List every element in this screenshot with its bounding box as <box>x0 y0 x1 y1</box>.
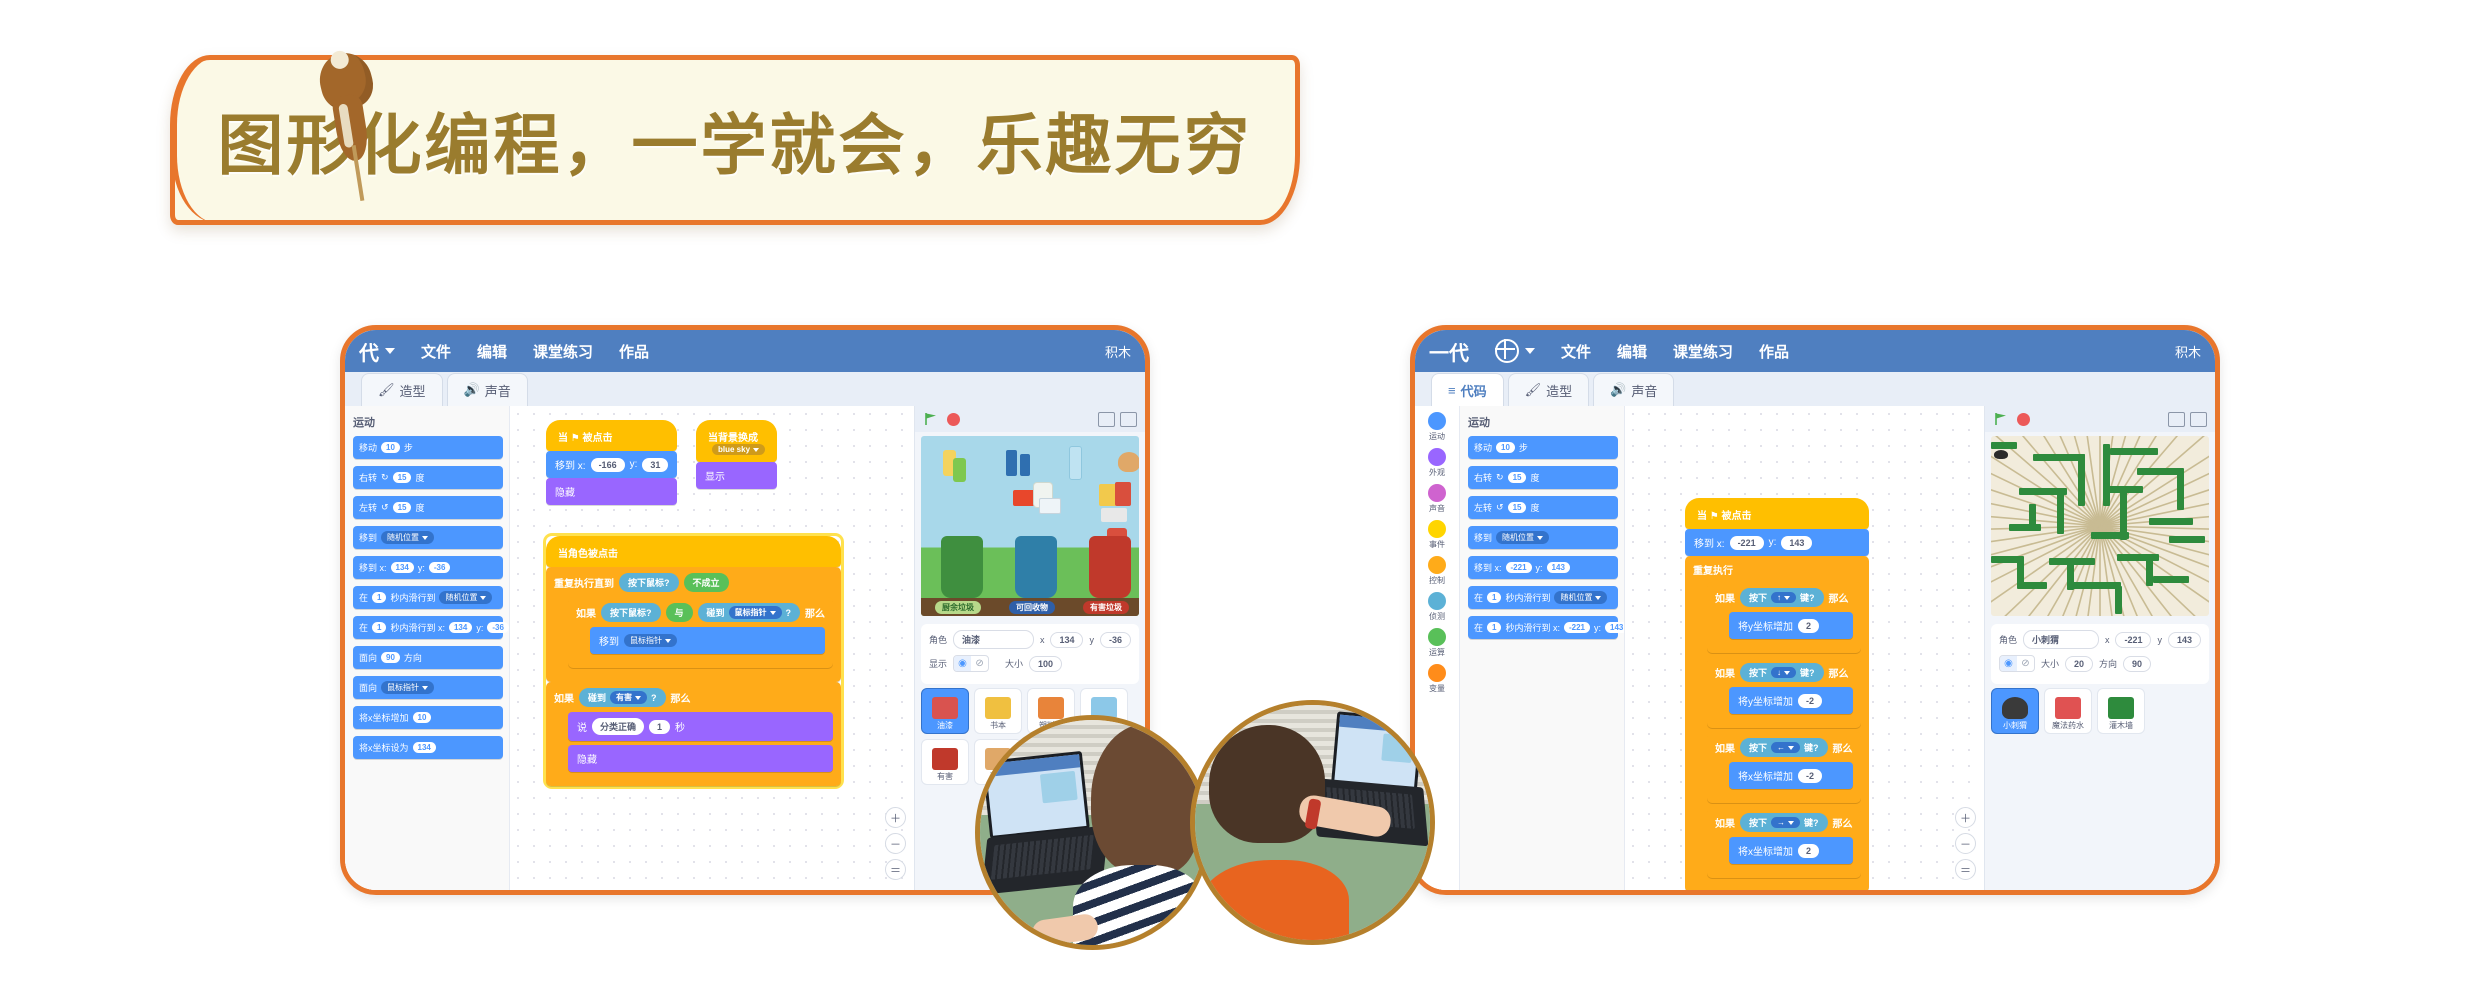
sprite-y-input[interactable]: -36 <box>1100 632 1131 648</box>
visibility-label: 显示 <box>929 657 947 670</box>
title-banner: 图形化编程，一学就会，乐趣无穷 <box>150 45 1310 225</box>
dropdown-random-position[interactable]: 随机位置 <box>1496 531 1549 544</box>
block-change-y-down[interactable]: 将y坐标增加 -2 <box>1729 687 1853 714</box>
left-block-palette[interactable]: 运动 移动 10 步 右转 ↻ 15 度 左转 ↺ 15 度 移到 随 <box>345 406 510 890</box>
sprite-name-input[interactable]: 小刺猬 <box>2023 630 2099 649</box>
block-key-pressed-up[interactable]: 按下 ↑ 键? <box>1740 588 1824 607</box>
category-control[interactable]: 控制 <box>1415 556 1459 586</box>
stop-icon[interactable] <box>2017 413 2030 426</box>
script-maze-controls[interactable]: 当 ⚑ 被点击 移到 x: -221 y: 143 重复执行 如果 <box>1685 498 1869 890</box>
screenshot-maze-game-app: 一代 文件 编辑 课堂练习 作品 积木 ≡ 代码 🖌 造型 🔊 声音 运动 <box>1410 325 2220 895</box>
category-sound[interactable]: 声音 <box>1415 484 1459 514</box>
script-when-flag-clicked[interactable]: 当 ⚑ 被点击 移到 x: -166 y: 31 隐藏 <box>546 420 677 505</box>
hat-when-flag-clicked[interactable]: 当 ⚑ 被点击 <box>1685 498 1869 529</box>
right-stage-column: 角色 小刺猬 x -221 y 143 ◉ ⊘ 大小 20 方向 90 <box>1984 406 2215 890</box>
category-events[interactable]: 事件 <box>1415 520 1459 550</box>
block-change-x-left[interactable]: 将x坐标增加 -2 <box>1729 762 1853 789</box>
pushpin-icon <box>310 45 400 205</box>
maze-wall <box>1991 442 2017 449</box>
sprite-direction-input[interactable]: 90 <box>2123 656 2151 672</box>
palette-category-title: 运动 <box>1468 414 1618 430</box>
palette-block-glide-random[interactable]: 在 1 秒内滑行到 随机位置 <box>353 586 503 609</box>
palette-block-glide-xy[interactable]: 在 1 秒内滑行到 x: 134 y: -36 <box>353 616 503 639</box>
trash-item-can-green <box>953 458 966 482</box>
dropdown-random-position-2[interactable]: 随机位置 <box>1554 591 1607 604</box>
category-dot <box>1428 556 1446 574</box>
block-if-touching-harmful[interactable]: 如果 碰到 有害 ? 那么 说 分类正确 <box>546 682 841 786</box>
sprite-name-label: 角色 <box>1999 633 2017 646</box>
dropdown-random-position[interactable]: 随机位置 <box>381 531 434 544</box>
block-change-x-right[interactable]: 将x坐标增加 2 <box>1729 837 1853 864</box>
block-goto-xy[interactable]: 移到 x: -221 y: 143 <box>1685 529 1869 556</box>
palette-block-move[interactable]: 移动 10 步 <box>353 436 503 459</box>
y-label: y <box>2157 635 2162 645</box>
laptop-screen <box>982 751 1090 839</box>
globe-icon[interactable] <box>1495 339 1519 363</box>
palette-block-turn-right[interactable]: 右转 ↻ 15 度 <box>1468 466 1618 489</box>
chevron-down-icon[interactable] <box>1525 348 1535 354</box>
block-goto-mouse[interactable]: 移到 鼠标指针 <box>590 627 825 654</box>
block-forever[interactable]: 重复执行 如果 按下 ↑ 键? <box>1685 556 1869 890</box>
hide-icon[interactable]: ⊘ <box>2017 656 2034 671</box>
code-icon: ≡ <box>1448 383 1456 398</box>
zoom-in-button[interactable]: ＋ <box>1955 807 1976 828</box>
bin-label-recyclable: 可回收物 <box>1009 601 1055 614</box>
palette-block-glide-xy[interactable]: 在 1 秒内滑行到 x: -221 y: 143 <box>1468 616 1618 639</box>
block-if-then[interactable]: 如果 按下鼠标? 与 碰到 鼠标指针 ? 那么 <box>568 597 833 668</box>
right-sprite-list: 小刺猬 魔法药水 灌木墙 <box>1991 688 2209 734</box>
right-app-topbar: 一代 文件 编辑 课堂练习 作品 积木 <box>1415 330 2215 372</box>
maze-wall <box>2017 582 2047 589</box>
dropdown-key-left[interactable]: ← <box>1771 742 1800 753</box>
person-hair <box>1091 724 1199 874</box>
zoom-in-button[interactable]: ＋ <box>885 807 906 828</box>
tab-costume[interactable]: 🖌 造型 <box>1508 373 1590 406</box>
maze-wall <box>2029 504 2036 530</box>
block-if-key-up[interactable]: 如果 按下 ↑ 键? 那么 <box>1707 582 1861 653</box>
bin-kitchen-waste[interactable] <box>941 536 983 598</box>
rotate-ccw-icon: ↺ <box>381 502 389 513</box>
dropdown-touching-target[interactable]: 鼠标指针 <box>729 606 782 619</box>
speaker-icon: 🔊 <box>1610 382 1626 398</box>
bin-recyclable[interactable] <box>1015 536 1057 598</box>
script-when-sprite-clicked[interactable]: 当角色被点击 重复执行直到 按下鼠标? 不成立 如果 按下鼠标? 与 <box>546 536 841 786</box>
block-repeat-until[interactable]: 重复执行直到 按下鼠标? 不成立 如果 按下鼠标? 与 碰到 <box>546 567 841 682</box>
category-dot <box>1428 484 1446 502</box>
right-app-body: 运动 外观 声音 事件 控制 侦测 <box>1415 406 2215 890</box>
category-dot <box>1428 664 1446 682</box>
trash-item-lunchbox <box>1039 498 1061 514</box>
right-zoom-controls[interactable]: ＋ － ＝ <box>1955 807 1976 880</box>
dropdown-key-down[interactable]: ↓ <box>1771 667 1796 678</box>
block-say-for-seconds[interactable]: 说 分类正确 1 秒 <box>568 712 833 741</box>
block-not[interactable]: 不成立 <box>684 573 729 592</box>
green-flag-icon[interactable] <box>1993 411 2009 427</box>
account-label[interactable]: 积木 <box>2175 342 2201 361</box>
block-if-key-left[interactable]: 如果 按下 ← 键? 那么 <box>1707 732 1861 803</box>
show-icon[interactable]: ◉ <box>954 656 971 671</box>
laptop-ui <box>985 754 1086 835</box>
account-label[interactable]: 积木 <box>1105 342 1131 361</box>
block-if-key-down[interactable]: 如果 按下 ↓ 键? 那么 <box>1707 657 1861 728</box>
rotate-cw-icon: ↻ <box>1496 472 1504 483</box>
block-key-pressed-down[interactable]: 按下 ↓ 键? <box>1740 663 1824 682</box>
block-mouse-down[interactable]: 按下鼠标? <box>619 573 679 592</box>
app-logo: 代 <box>359 337 395 366</box>
palette-block-turn-left[interactable]: 左转 ↺ 15 度 <box>353 496 503 519</box>
category-dot <box>1428 592 1446 610</box>
show-icon[interactable]: ◉ <box>2000 656 2017 671</box>
maze-wall <box>2146 554 2153 586</box>
left-app-tabbar: 🖌 造型 🔊 声音 <box>345 372 1145 406</box>
sprite-thumbnail <box>2002 697 2028 719</box>
left-script-canvas[interactable]: 当 ⚑ 被点击 移到 x: -166 y: 31 隐藏 当背景换成 blue s… <box>510 406 914 890</box>
palette-block-change-x[interactable]: 将x坐标增加 10 <box>353 706 503 729</box>
category-looks[interactable]: 外观 <box>1415 448 1459 478</box>
category-variables[interactable]: 变量 <box>1415 664 1459 694</box>
x-label: x <box>2105 635 2110 645</box>
right-app-tabbar: ≡ 代码 🖌 造型 🔊 声音 <box>1415 372 2215 406</box>
palette-block-set-x[interactable]: 将x坐标设为 134 <box>353 736 503 759</box>
palette-block-turn-right[interactable]: 右转 ↻ 15 度 <box>353 466 503 489</box>
dropdown-harmful[interactable]: 有害 <box>610 691 647 704</box>
dropdown-key-right[interactable]: → <box>1771 817 1800 828</box>
trash-item-bread <box>1118 452 1139 472</box>
trash-item-battery-2 <box>1020 454 1030 476</box>
category-sensing[interactable]: 侦测 <box>1415 592 1459 622</box>
palette-block-glide-random[interactable]: 在 1 秒内滑行到 随机位置 <box>1468 586 1618 609</box>
sprite-name-input[interactable]: 油漆 <box>953 630 1034 649</box>
sprite-card-potion[interactable]: 魔法药水 <box>2044 688 2092 734</box>
block-touching[interactable]: 碰到 鼠标指针 ? <box>698 603 801 622</box>
sprite-thumbnail <box>932 697 958 719</box>
left-stage-controls <box>915 406 1145 432</box>
category-motion[interactable]: 运动 <box>1415 412 1459 442</box>
zoom-reset-button[interactable]: ＝ <box>1955 859 1976 880</box>
left-sprite-info-panel: 角色 油漆 x 134 y -36 显示 ◉ ⊘ 大小 100 <box>921 624 1139 684</box>
maze-wall <box>2110 448 2158 455</box>
bin-label-harmful: 有害垃圾 <box>1083 601 1129 614</box>
menu-edit[interactable]: 编辑 <box>1617 341 1647 362</box>
dropdown-random-position-2[interactable]: 随机位置 <box>439 591 492 604</box>
tab-sound[interactable]: 🔊 声音 <box>1593 373 1674 406</box>
photo-boy-coding <box>1190 700 1435 945</box>
fullscreen-icon[interactable] <box>1120 412 1137 427</box>
speaker-icon: 🔊 <box>464 382 480 398</box>
category-dot <box>1428 520 1446 538</box>
maze-wall <box>2009 524 2041 531</box>
zoom-out-button[interactable]: － <box>885 833 906 854</box>
palette-block-turn-left[interactable]: 左转 ↺ 15 度 <box>1468 496 1618 519</box>
sprite-card-paint[interactable]: 油漆 <box>921 688 969 734</box>
hat-when-backdrop[interactable]: 当背景换成 blue sky <box>696 420 777 462</box>
palette-block-goto-random[interactable]: 移到 随机位置 <box>353 526 503 549</box>
sprite-x-input[interactable]: 134 <box>1050 632 1083 648</box>
block-show[interactable]: 显示 <box>696 462 777 489</box>
block-hide-2[interactable]: 隐藏 <box>568 745 833 772</box>
sprite-y-input[interactable]: 143 <box>2168 632 2201 648</box>
green-flag-icon[interactable] <box>923 411 939 427</box>
maze-wall <box>2149 518 2193 525</box>
hide-icon[interactable]: ⊘ <box>971 656 988 671</box>
right-block-palette[interactable]: 运动 移动 10 步 右转 ↻ 15 度 左转 ↺ 15 度 移到 随机 <box>1460 406 1625 890</box>
trash-item-snack-bag <box>1013 490 1035 506</box>
x-label: x <box>1040 635 1045 645</box>
right-script-canvas[interactable]: 当 ⚑ 被点击 移到 x: -221 y: 143 重复执行 如果 <box>1625 406 1984 890</box>
block-if-key-right[interactable]: 如果 按下 → 键? 那么 <box>1707 807 1861 878</box>
maze-wall <box>2153 576 2189 583</box>
bin-label-kitchen: 厨余垃圾 <box>935 601 981 614</box>
script-when-backdrop-switches[interactable]: 当背景换成 blue sky 显示 <box>696 420 777 489</box>
sprite-name-label: 角色 <box>929 633 947 646</box>
category-dot <box>1428 628 1446 646</box>
tab-sound[interactable]: 🔊 声音 <box>447 373 528 406</box>
laptop-ui <box>1334 715 1420 790</box>
menu-file[interactable]: 文件 <box>1561 341 1591 362</box>
menu-works[interactable]: 作品 <box>619 341 649 362</box>
sprite-thumbnail <box>1038 697 1064 719</box>
block-hide[interactable]: 隐藏 <box>546 478 677 505</box>
trash-item-book-2 <box>1115 482 1131 506</box>
palette-block-goto-xy[interactable]: 移到 x: 134 y: -36 <box>353 556 503 579</box>
sprite-card-hedgehog[interactable]: 小刺猬 <box>1991 688 2039 734</box>
block-key-pressed-left[interactable]: 按下 ← 键? <box>1740 738 1828 757</box>
menu-exercise[interactable]: 课堂练习 <box>1673 341 1733 362</box>
dropdown-backdrop[interactable]: blue sky <box>712 444 765 455</box>
small-stage-icon[interactable] <box>2168 412 2185 427</box>
hat-when-flag-clicked[interactable]: 当 ⚑ 被点击 <box>546 420 677 451</box>
left-app-topbar: 代 文件 编辑 课堂练习 作品 积木 <box>345 330 1145 372</box>
palette-block-goto-random[interactable]: 移到 随机位置 <box>1468 526 1618 549</box>
sprite-thumbnail <box>2108 697 2134 719</box>
fullscreen-icon[interactable] <box>2190 412 2207 427</box>
menu-file[interactable]: 文件 <box>421 341 451 362</box>
chevron-down-icon[interactable] <box>385 348 395 354</box>
trash-item-newspaper <box>1101 508 1127 522</box>
block-key-pressed-right[interactable]: 按下 → 键? <box>1740 813 1828 832</box>
maze-wall <box>2067 582 2121 589</box>
direction-label: 方向 <box>2099 657 2117 670</box>
sprite-card-harmful[interactable]: 有害 <box>921 739 969 785</box>
palette-block-point-towards[interactable]: 面向 鼠标指针 <box>353 676 503 699</box>
sprite-x-input[interactable]: -221 <box>2115 632 2151 648</box>
size-label: 大小 <box>1005 657 1023 670</box>
brush-icon: 🖌 <box>1525 382 1542 398</box>
y-label: y <box>1089 635 1094 645</box>
menu-works[interactable]: 作品 <box>1759 341 1789 362</box>
dropdown-goto-target[interactable]: 鼠标指针 <box>624 634 677 647</box>
sprite-size-input[interactable]: 100 <box>1029 656 1062 672</box>
tab-code[interactable]: ≡ 代码 <box>1431 373 1504 406</box>
maze-wall <box>2091 532 2129 539</box>
right-sprite-info-panel: 角色 小刺猬 x -221 y 143 ◉ ⊘ 大小 20 方向 90 <box>1991 624 2209 684</box>
bin-harmful[interactable] <box>1089 536 1131 598</box>
maze-wall <box>2103 444 2110 506</box>
maze-wall <box>2078 454 2085 506</box>
right-stage-controls <box>1985 406 2215 432</box>
maze-wall <box>2177 468 2184 510</box>
palette-block-move[interactable]: 移动 10 步 <box>1468 436 1618 459</box>
maze-wall <box>2169 536 2205 543</box>
person-shirt <box>1199 860 1349 945</box>
sprite-hedgehog[interactable] <box>1994 450 2008 459</box>
palette-block-goto-xy[interactable]: 移到 x: -221 y: 143 <box>1468 556 1618 579</box>
zoom-reset-button[interactable]: ＝ <box>885 859 906 880</box>
tab-costume[interactable]: 🖌 造型 <box>361 373 443 406</box>
trash-item-battery-1 <box>1006 450 1017 476</box>
sprite-thumbnail <box>985 697 1011 719</box>
rotate-ccw-icon: ↺ <box>1496 502 1504 513</box>
small-stage-icon[interactable] <box>1098 412 1115 427</box>
block-touching-harmful[interactable]: 碰到 有害 ? <box>579 688 666 707</box>
app-logo: 一代 <box>1429 337 1469 366</box>
right-stage-canvas[interactable] <box>1991 436 2209 616</box>
sprite-thumbnail <box>2055 697 2081 719</box>
hat-when-sprite-clicked[interactable]: 当角色被点击 <box>546 536 841 567</box>
maze-wall <box>2057 488 2064 534</box>
maze-wall <box>2115 586 2122 614</box>
block-mouse-down-2[interactable]: 按下鼠标? <box>601 603 661 622</box>
block-goto-xy[interactable]: 移到 x: -166 y: 31 <box>546 451 677 478</box>
photo-girl-coding <box>975 715 1210 950</box>
dropdown-mouse-pointer[interactable]: 鼠标指针 <box>381 681 434 694</box>
trash-item-water-bottle <box>1069 446 1082 480</box>
size-label: 大小 <box>2041 657 2059 670</box>
brush-icon: 🖌 <box>378 382 395 398</box>
sprite-thumbnail <box>932 748 958 770</box>
sprite-card-bushwall[interactable]: 灌木墙 <box>2097 688 2145 734</box>
category-dot <box>1428 412 1446 430</box>
rotate-cw-icon: ↻ <box>381 472 389 483</box>
left-zoom-controls[interactable]: ＋ － ＝ <box>885 807 906 880</box>
category-operators[interactable]: 运算 <box>1415 628 1459 658</box>
palette-category-title: 运动 <box>353 414 503 430</box>
category-dot <box>1428 448 1446 466</box>
block-and[interactable]: 与 <box>666 603 693 622</box>
stop-icon[interactable] <box>947 413 960 426</box>
sprite-size-input[interactable]: 20 <box>2065 656 2093 672</box>
dropdown-key-up[interactable]: ↑ <box>1771 592 1796 603</box>
menu-exercise[interactable]: 课堂练习 <box>533 341 593 362</box>
left-stage-canvas[interactable]: 厨余垃圾 可回收物 有害垃圾 <box>921 436 1139 616</box>
zoom-out-button[interactable]: － <box>1955 833 1976 854</box>
block-change-y-up[interactable]: 将y坐标增加 2 <box>1729 612 1853 639</box>
palette-block-point-direction[interactable]: 面向 90 方向 <box>353 646 503 669</box>
menu-edit[interactable]: 编辑 <box>477 341 507 362</box>
